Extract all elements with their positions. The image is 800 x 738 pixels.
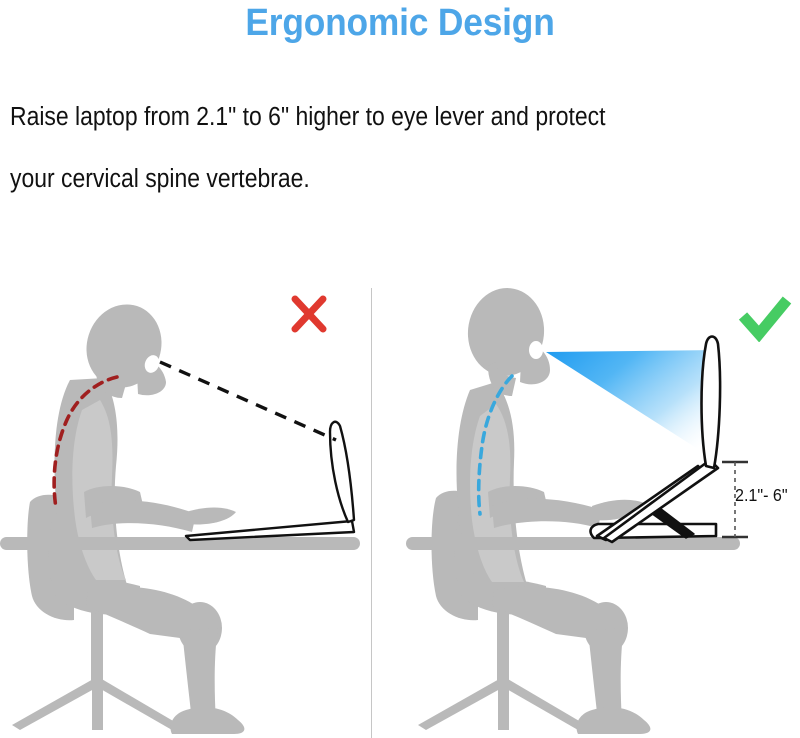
height-dimension-label: 2.1"- 6" bbox=[735, 485, 788, 506]
description-line-1: Raise laptop from 2.1" to 6" higher to e… bbox=[10, 86, 714, 148]
sight-line-bad bbox=[160, 362, 336, 440]
foot bbox=[171, 707, 245, 734]
x-mark-icon bbox=[289, 293, 329, 335]
hand bbox=[186, 508, 236, 525]
description-paragraph: Raise laptop from 2.1" to 6" higher to e… bbox=[10, 86, 714, 210]
check-mark-icon bbox=[737, 294, 793, 342]
page-title: Ergonomic Design bbox=[28, 2, 772, 45]
comparison-illustrations bbox=[0, 270, 800, 738]
desk-surface-right bbox=[406, 537, 740, 550]
ergonomic-design-infographic: Ergonomic Design Raise laptop from 2.1" … bbox=[0, 0, 800, 738]
desk-surface bbox=[0, 537, 360, 550]
foot-right bbox=[577, 707, 651, 734]
forearm-right bbox=[492, 499, 602, 528]
eye-right bbox=[529, 341, 543, 359]
right-illustration-good-posture bbox=[406, 284, 748, 734]
description-line-2: your cervical spine vertebrae. bbox=[10, 148, 714, 210]
left-illustration-bad-posture bbox=[0, 295, 360, 734]
vision-cone bbox=[546, 350, 720, 458]
